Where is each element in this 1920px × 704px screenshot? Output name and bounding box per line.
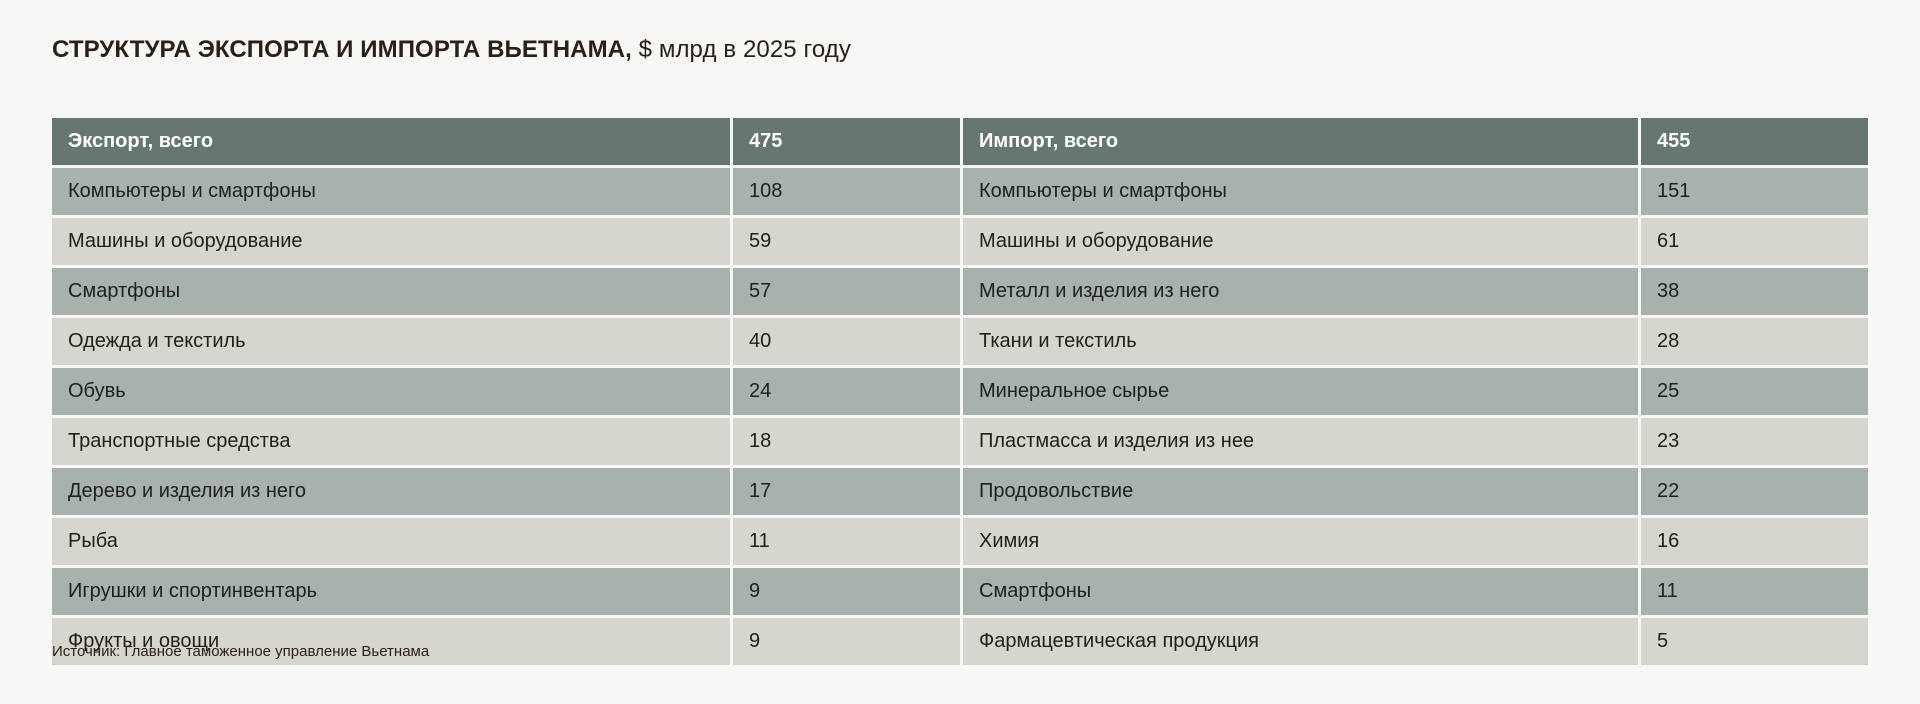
table-row: Одежда и текстиль 40 Ткани и текстиль 28 bbox=[52, 318, 1868, 365]
table-row: Обувь 24 Минеральное сырье 25 bbox=[52, 368, 1868, 415]
import-label: Фармацевтическая продукция bbox=[963, 618, 1638, 665]
import-value: 11 bbox=[1641, 568, 1868, 615]
export-label: Одежда и текстиль bbox=[52, 318, 730, 365]
infographic-page: СТРУКТУРА ЭКСПОРТА И ИМПОРТА ВЬЕТНАМА, $… bbox=[0, 0, 1920, 704]
table-row: Игрушки и спортинвентарь 9 Смартфоны 11 bbox=[52, 568, 1868, 615]
header-export-value: 475 bbox=[733, 118, 960, 165]
table-row: Дерево и изделия из него 17 Продовольств… bbox=[52, 468, 1868, 515]
table-row: Машины и оборудование 59 Машины и оборуд… bbox=[52, 218, 1868, 265]
import-value: 61 bbox=[1641, 218, 1868, 265]
import-value: 25 bbox=[1641, 368, 1868, 415]
export-value: 18 bbox=[733, 418, 960, 465]
import-label: Компьютеры и смартфоны bbox=[963, 168, 1638, 215]
export-import-table: Экспорт, всего 475 Импорт, всего 455 Ком… bbox=[52, 118, 1868, 665]
export-value: 24 bbox=[733, 368, 960, 415]
export-label: Рыба bbox=[52, 518, 730, 565]
import-value: 151 bbox=[1641, 168, 1868, 215]
export-value: 9 bbox=[733, 618, 960, 665]
table-row: Транспортные средства 18 Пластмасса и из… bbox=[52, 418, 1868, 465]
export-label: Смартфоны bbox=[52, 268, 730, 315]
export-label: Транспортные средства bbox=[52, 418, 730, 465]
source-note: Источник: Главное таможенное управление … bbox=[52, 643, 429, 660]
import-value: 16 bbox=[1641, 518, 1868, 565]
import-label: Машины и оборудование bbox=[963, 218, 1638, 265]
import-label: Ткани и текстиль bbox=[963, 318, 1638, 365]
import-value: 23 bbox=[1641, 418, 1868, 465]
import-label: Пластмасса и изделия из нее bbox=[963, 418, 1638, 465]
export-label: Машины и оборудование bbox=[52, 218, 730, 265]
header-export-label: Экспорт, всего bbox=[52, 118, 730, 165]
export-label: Обувь bbox=[52, 368, 730, 415]
export-label: Компьютеры и смартфоны bbox=[52, 168, 730, 215]
header-import-value: 455 bbox=[1641, 118, 1868, 165]
export-value: 11 bbox=[733, 518, 960, 565]
import-label: Химия bbox=[963, 518, 1638, 565]
export-value: 17 bbox=[733, 468, 960, 515]
page-title: СТРУКТУРА ЭКСПОРТА И ИМПОРТА ВЬЕТНАМА, $… bbox=[52, 36, 851, 65]
import-label: Металл и изделия из него bbox=[963, 268, 1638, 315]
export-value: 57 bbox=[733, 268, 960, 315]
import-value: 5 bbox=[1641, 618, 1868, 665]
table-header-row: Экспорт, всего 475 Импорт, всего 455 bbox=[52, 118, 1868, 165]
export-value: 40 bbox=[733, 318, 960, 365]
import-label: Смартфоны bbox=[963, 568, 1638, 615]
export-value: 59 bbox=[733, 218, 960, 265]
import-value: 28 bbox=[1641, 318, 1868, 365]
table-row: Компьютеры и смартфоны 108 Компьютеры и … bbox=[52, 168, 1868, 215]
import-value: 38 bbox=[1641, 268, 1868, 315]
import-label: Продовольствие bbox=[963, 468, 1638, 515]
export-label: Игрушки и спортинвентарь bbox=[52, 568, 730, 615]
import-label: Минеральное сырье bbox=[963, 368, 1638, 415]
page-title-subtitle: $ млрд в 2025 году bbox=[632, 36, 851, 63]
export-value: 108 bbox=[733, 168, 960, 215]
header-import-label: Импорт, всего bbox=[963, 118, 1638, 165]
page-title-main: СТРУКТУРА ЭКСПОРТА И ИМПОРТА ВЬЕТНАМА, bbox=[52, 36, 632, 63]
export-value: 9 bbox=[733, 568, 960, 615]
import-value: 22 bbox=[1641, 468, 1868, 515]
export-label: Дерево и изделия из него bbox=[52, 468, 730, 515]
table-row: Смартфоны 57 Металл и изделия из него 38 bbox=[52, 268, 1868, 315]
table-row: Рыба 11 Химия 16 bbox=[52, 518, 1868, 565]
